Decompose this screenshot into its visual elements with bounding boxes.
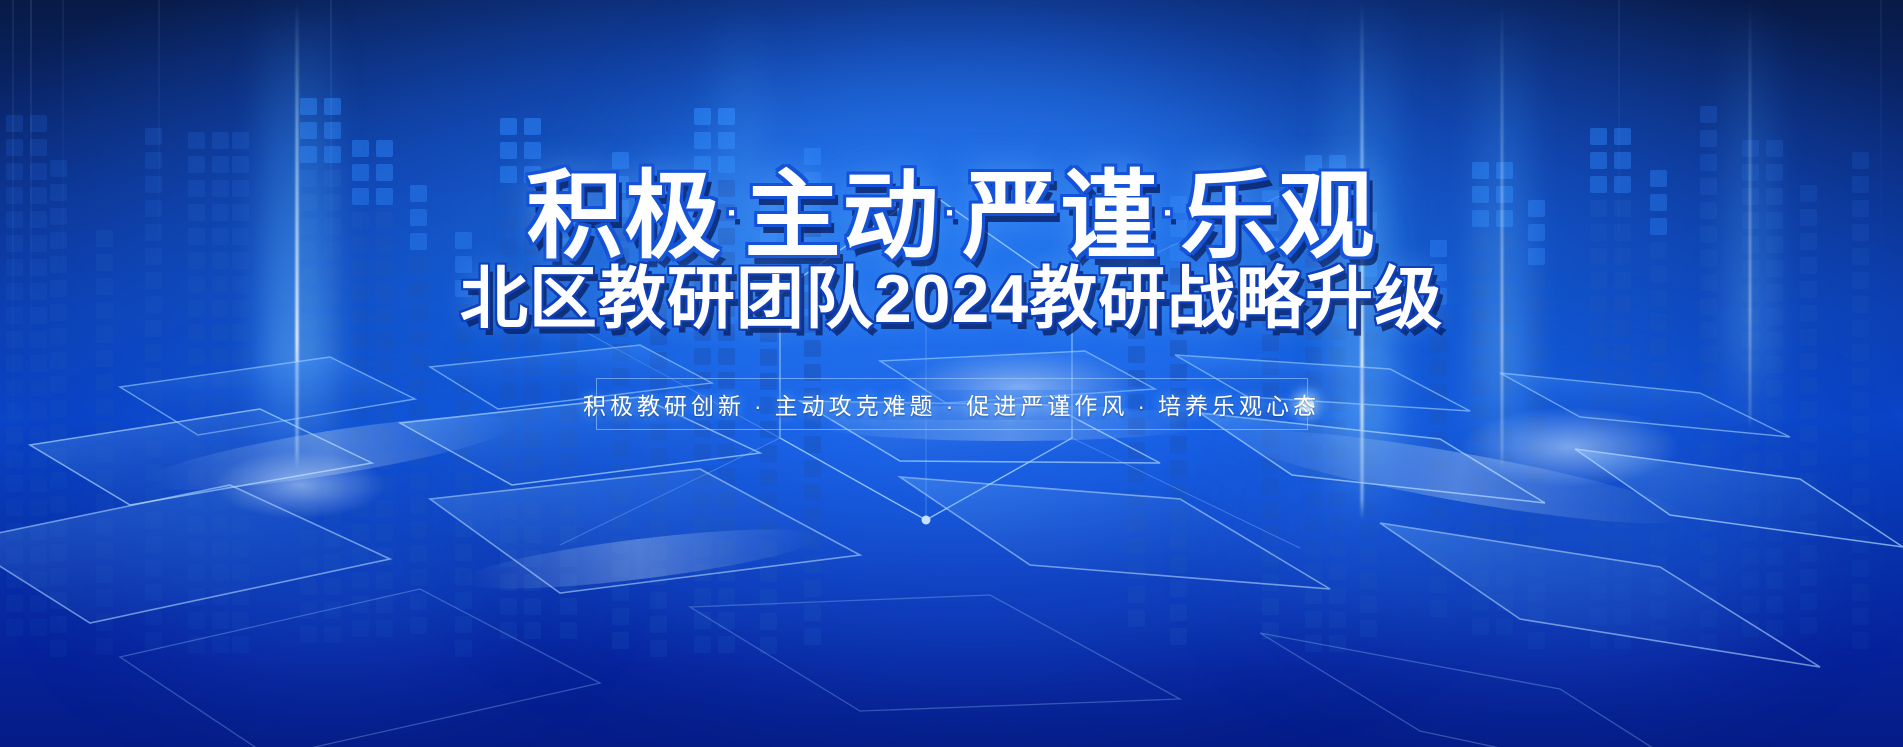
- main-title: 积极·主动·严谨·乐观: [0, 168, 1903, 266]
- main-title-part-4: 乐观: [1181, 163, 1377, 270]
- title-separator: ·: [723, 192, 745, 233]
- tagline-item-1: 积极教研创新: [583, 393, 745, 419]
- main-title-part-3: 严谨: [963, 163, 1159, 270]
- banner-content: 积极·主动·严谨·乐观 北区教研团队2024教研战略升级 积极教研创新·主动攻克…: [0, 0, 1903, 747]
- tagline-item-2: 主动攻克难题: [775, 393, 937, 419]
- tagline-separator: ·: [745, 393, 775, 419]
- tagline-separator: ·: [937, 393, 967, 419]
- title-separator: ·: [941, 192, 963, 233]
- tagline-text: 积极教研创新·主动攻克难题·促进严谨作风·培养乐观心态: [583, 387, 1320, 421]
- tagline-separator: ·: [1128, 393, 1158, 419]
- main-title-part-2: 主动: [745, 163, 941, 270]
- tagline-box: 积极教研创新·主动攻克难题·促进严谨作风·培养乐观心态: [596, 378, 1308, 430]
- tagline-item-4: 培养乐观心态: [1158, 393, 1320, 419]
- tagline-item-3: 促进严谨作风: [966, 393, 1128, 419]
- sub-title: 北区教研团队2024教研战略升级: [0, 265, 1903, 333]
- title-separator: ·: [1159, 192, 1181, 233]
- tech-banner: 积极·主动·严谨·乐观 北区教研团队2024教研战略升级 积极教研创新·主动攻克…: [0, 0, 1903, 747]
- main-title-part-1: 积极: [527, 163, 723, 270]
